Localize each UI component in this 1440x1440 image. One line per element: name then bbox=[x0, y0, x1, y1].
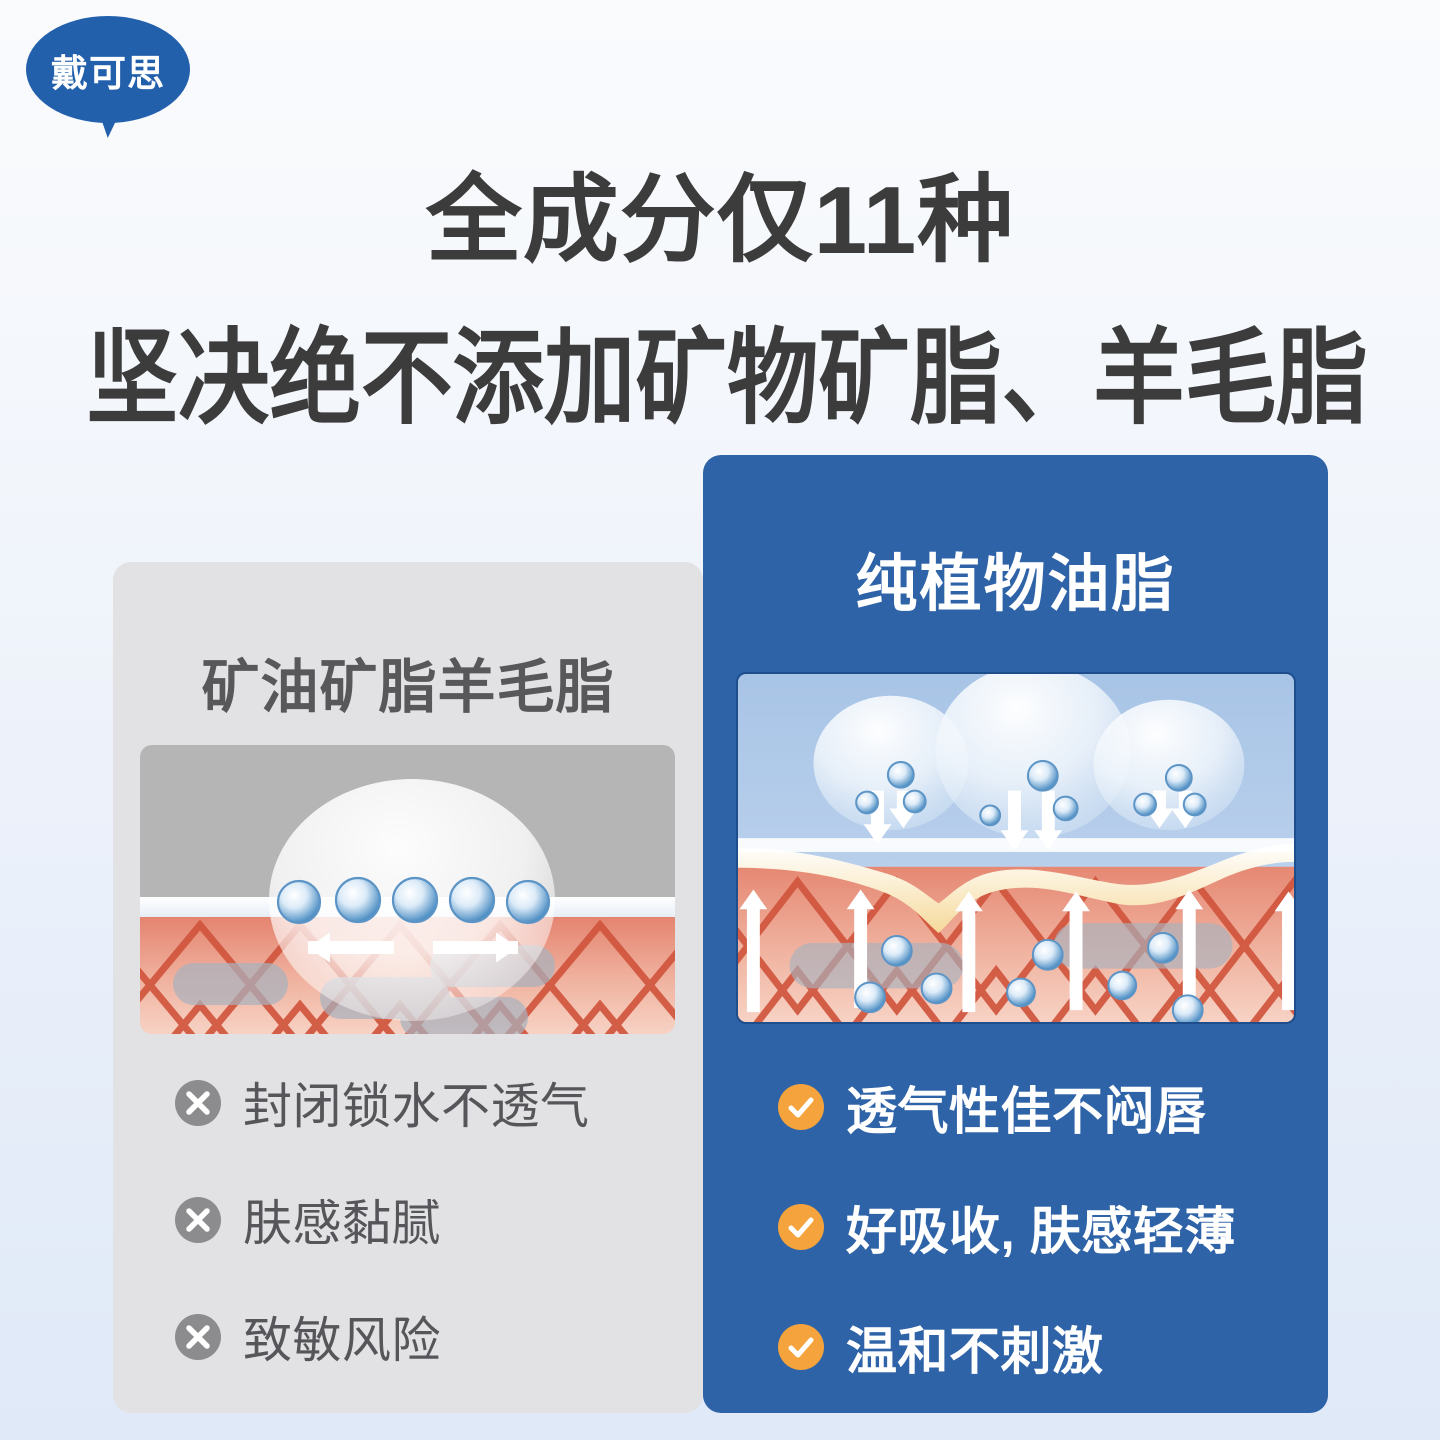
comparison-card-negative: 矿油矿脂羊毛脂 bbox=[113, 562, 703, 1413]
close-icon bbox=[175, 1314, 221, 1360]
list-item-label: 肤感黏腻 bbox=[243, 1184, 441, 1255]
positive-bullet-list: 透气性佳不闷唇 好吸收, 肤感轻薄 温和不刺激 bbox=[778, 1070, 1318, 1384]
check-icon bbox=[778, 1324, 824, 1370]
list-item: 温和不刺激 bbox=[778, 1310, 1318, 1384]
list-item: 透气性佳不闷唇 bbox=[778, 1070, 1318, 1144]
check-icon bbox=[778, 1204, 824, 1250]
list-item: 封闭锁水不透气 bbox=[175, 1067, 695, 1138]
list-item-label: 透气性佳不闷唇 bbox=[846, 1070, 1207, 1144]
positive-card-title: 纯植物油脂 bbox=[703, 533, 1328, 623]
close-icon bbox=[175, 1080, 221, 1126]
logo-text: 戴可思 bbox=[26, 16, 190, 123]
comparison-card-positive: 纯植物油脂 bbox=[703, 455, 1328, 1413]
page-title: 全成分仅11种 bbox=[0, 168, 1440, 274]
list-item-label: 温和不刺激 bbox=[846, 1310, 1104, 1384]
page-subtitle: 坚决绝不添加矿物矿脂、羊毛脂 bbox=[86, 320, 1353, 440]
list-item: 好吸收, 肤感轻薄 bbox=[778, 1190, 1318, 1264]
brand-logo: 戴可思 bbox=[26, 16, 206, 151]
list-item-label: 封闭锁水不透气 bbox=[243, 1067, 590, 1138]
list-item: 肤感黏腻 bbox=[175, 1184, 695, 1255]
list-item: 致敏风险 bbox=[175, 1301, 695, 1372]
close-icon bbox=[175, 1197, 221, 1243]
list-item-label: 好吸收, 肤感轻薄 bbox=[846, 1190, 1236, 1264]
occlusive-film-diagram bbox=[140, 745, 675, 1034]
negative-card-title: 矿油矿脂羊毛脂 bbox=[113, 640, 703, 724]
breathable-absorption-diagram bbox=[736, 672, 1296, 1024]
list-item-label: 致敏风险 bbox=[243, 1301, 441, 1372]
negative-bullet-list: 封闭锁水不透气 肤感黏腻 致敏风险 bbox=[175, 1067, 695, 1372]
check-icon bbox=[778, 1084, 824, 1130]
